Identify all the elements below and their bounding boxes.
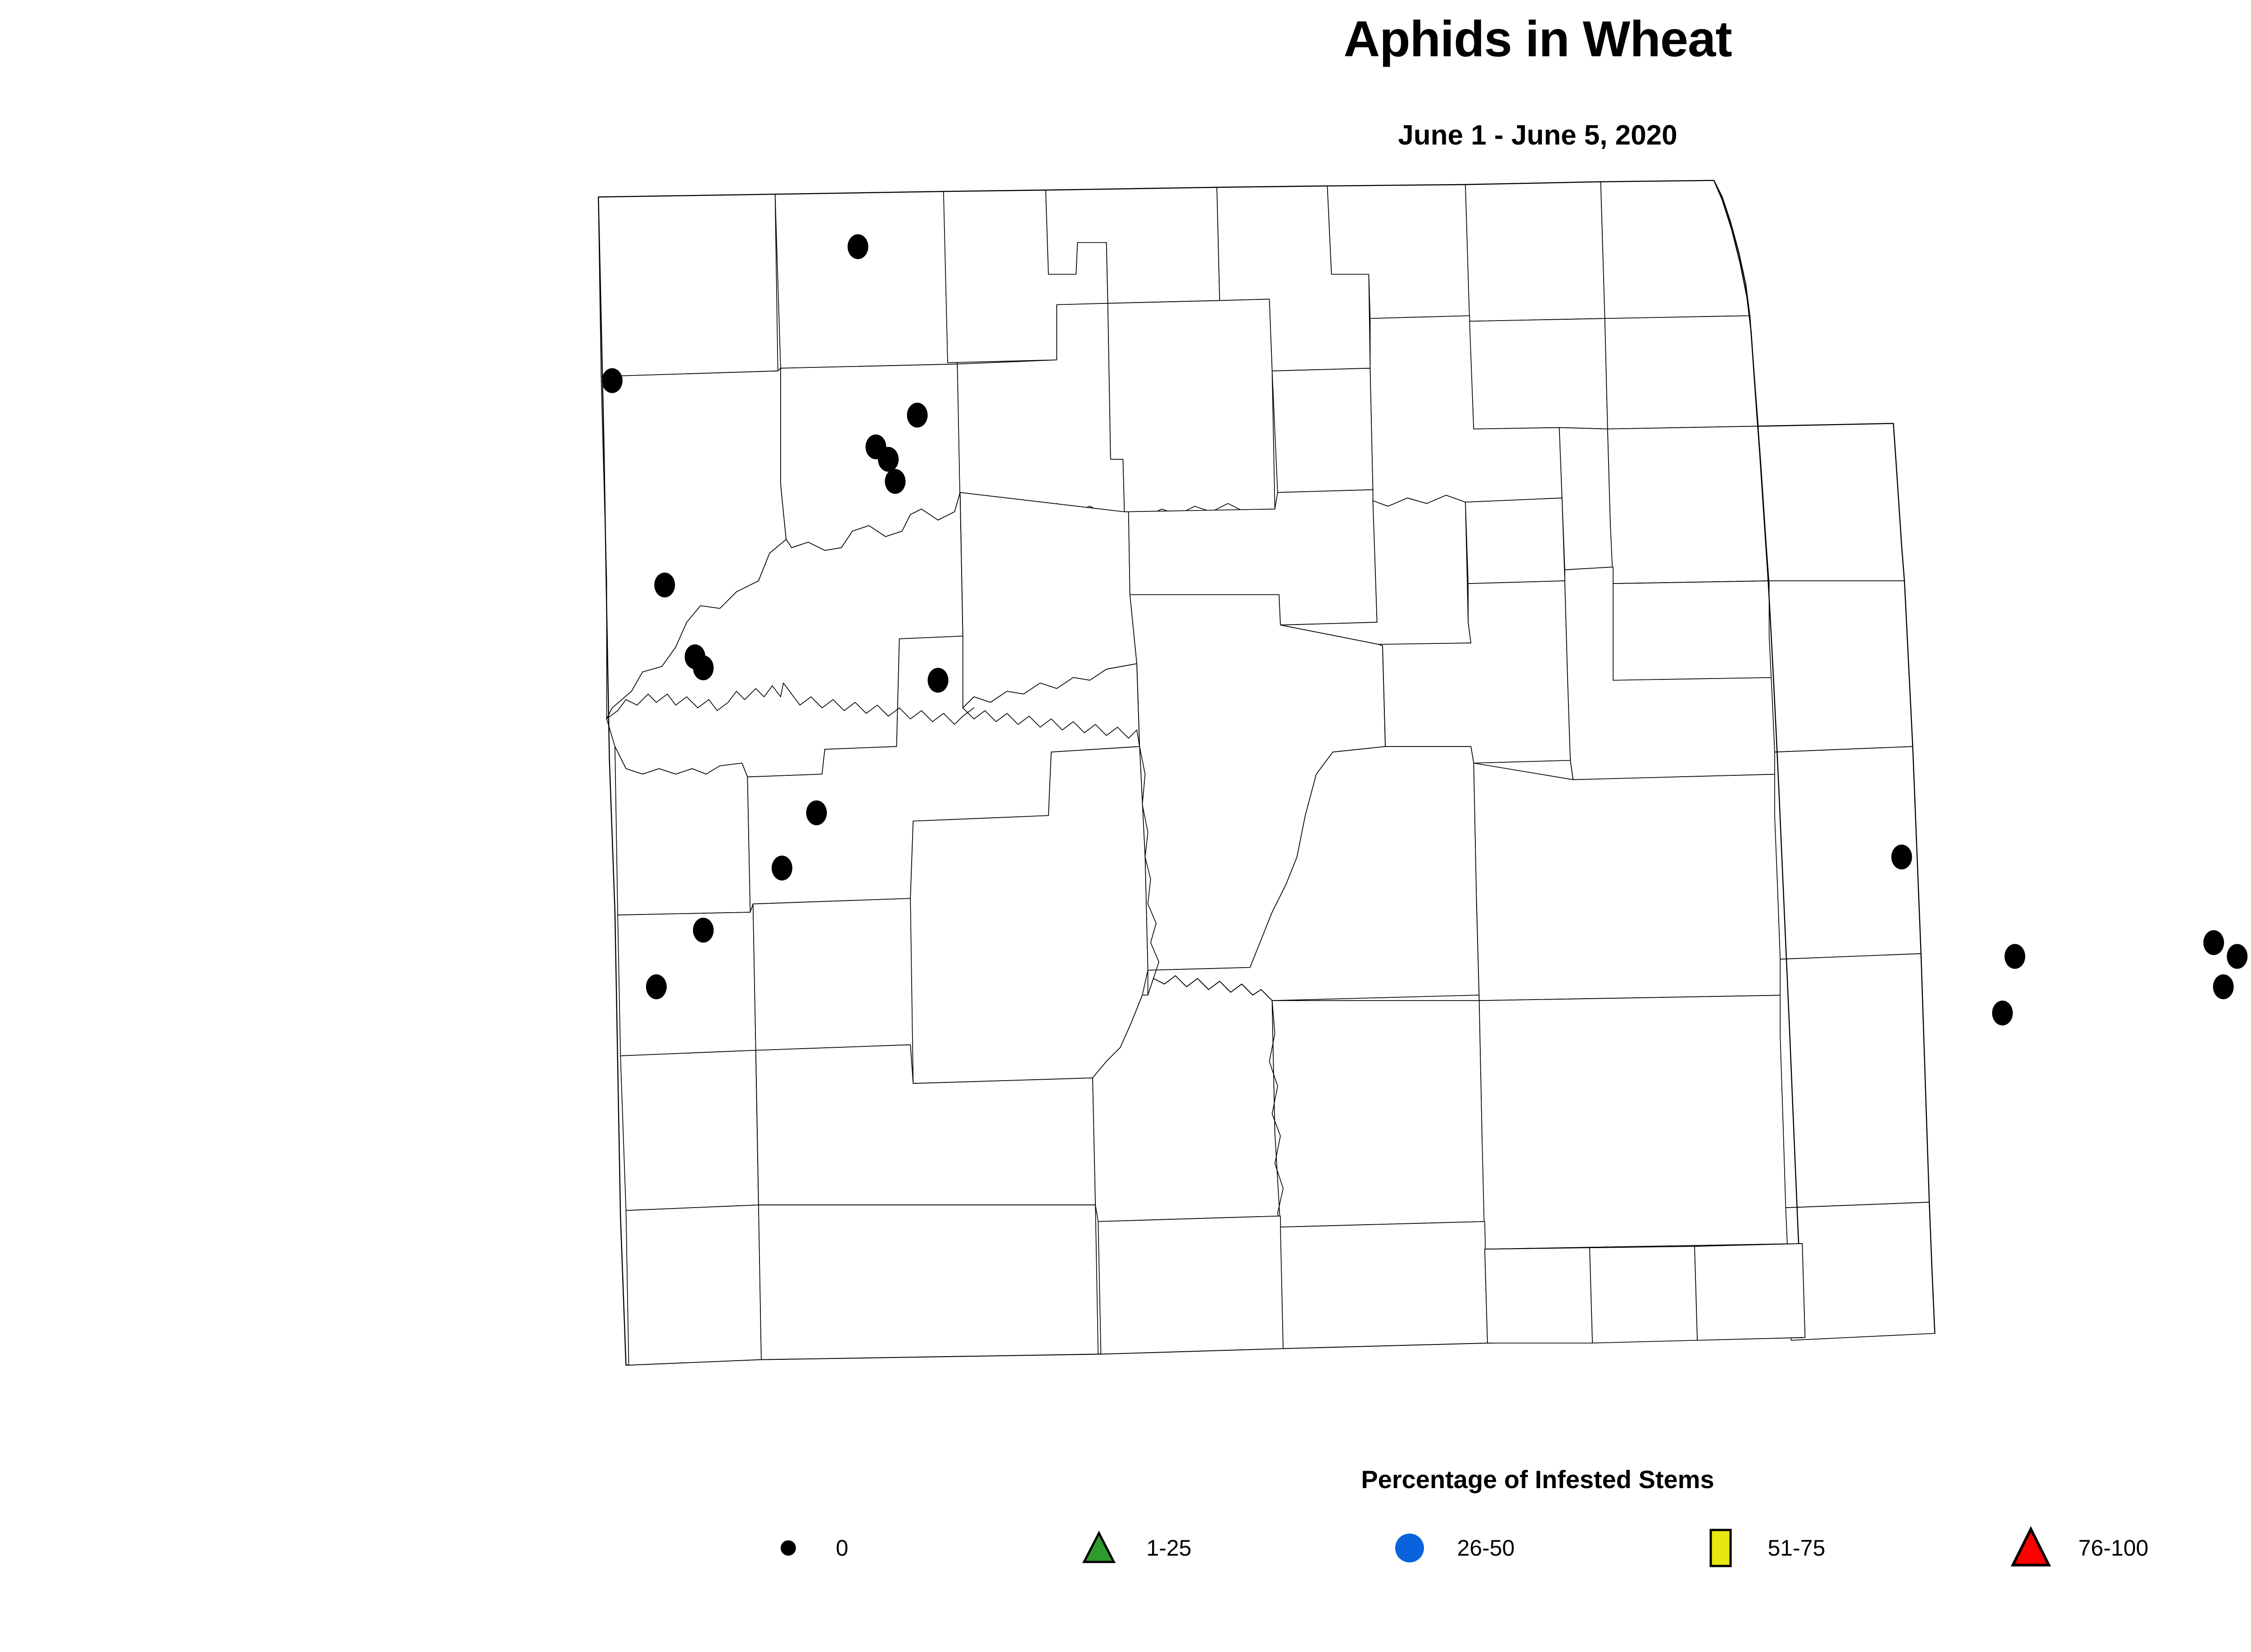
north-dakota-county-map	[482, 167, 2251, 1409]
survey-site-marker	[693, 918, 714, 942]
legend-label-0: 0	[836, 1537, 849, 1559]
black-dot-icon	[761, 1521, 815, 1575]
red-triangle-icon	[2004, 1521, 2058, 1575]
survey-site-marker	[2005, 944, 2025, 969]
legend-label-26-50: 26-50	[1457, 1537, 1515, 1559]
survey-site-marker	[693, 656, 714, 680]
survey-site-marker	[2227, 944, 2247, 969]
survey-site-marker	[878, 447, 899, 472]
legend-item-76-100[interactable]: 76-100	[2004, 1521, 2251, 1575]
county-boundaries	[598, 181, 1935, 1340]
blue-circle-icon	[1383, 1521, 1437, 1575]
legend-label-51-75: 51-75	[1768, 1537, 1826, 1559]
date-range-subtitle: June 1 - June 5, 2020	[0, 121, 2251, 150]
legend-item-26-50[interactable]: 26-50	[1383, 1521, 1693, 1575]
survey-site-marker	[1891, 845, 1912, 869]
yellow-square-icon	[1693, 1521, 1747, 1575]
survey-site-marker	[646, 974, 667, 999]
map-svg	[482, 167, 2251, 1409]
legend-label-1-25: 1-25	[1147, 1537, 1192, 1559]
legend-item-1-25[interactable]: 1-25	[1072, 1521, 1383, 1575]
page-title: Aphids in Wheat	[0, 13, 2251, 66]
survey-site-marker	[885, 469, 905, 494]
survey-site-marker	[907, 403, 928, 427]
survey-site-marker	[806, 801, 827, 825]
survey-site-marker	[848, 234, 868, 259]
survey-site-marker	[654, 573, 675, 597]
survey-site-marker	[928, 668, 949, 692]
survey-site-marker	[2213, 974, 2234, 999]
survey-site-marker	[1992, 1000, 2013, 1025]
legend: Percentage of Infested Stems 0 1-25	[0, 1467, 2251, 1575]
legend-items: 0 1-25 26-50	[0, 1521, 2251, 1575]
legend-item-51-75[interactable]: 51-75	[1693, 1521, 2004, 1575]
legend-item-0[interactable]: 0	[761, 1521, 1072, 1575]
survey-site-marker	[2203, 930, 2224, 955]
legend-label-76-100: 76-100	[2079, 1537, 2149, 1559]
legend-title: Percentage of Infested Stems	[0, 1467, 2251, 1492]
survey-site-marker	[602, 368, 623, 393]
green-triangle-icon	[1072, 1521, 1126, 1575]
map-page: Aphids in Wheat June 1 - June 5, 2020	[0, 0, 2251, 1652]
survey-site-marker	[772, 855, 792, 880]
